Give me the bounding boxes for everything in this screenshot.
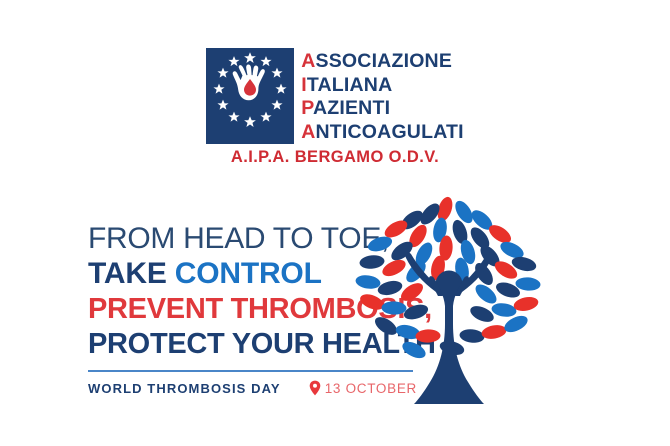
aipa-rest-1: SSOCIAZIONE	[316, 50, 453, 72]
wtd-headline-block: FROM HEAD TO TOE, TAKE CONTROL PREVENT T…	[88, 222, 388, 362]
aipa-initial-1: A	[301, 50, 315, 72]
aipa-subtitle: A.I.P.A. BERGAMO O.D.V.	[0, 148, 670, 167]
aipa-rest-3: AZIENTI	[313, 97, 390, 119]
wtd-headline-line-3: PREVENT THROMBOSIS,	[88, 292, 388, 327]
aipa-rest-2: TALIANA	[307, 74, 393, 96]
aipa-wordmark-line-4: ANTICOAGULATI	[301, 121, 464, 145]
aipa-initial-3: P	[301, 97, 313, 119]
aipa-emblem	[206, 48, 294, 144]
tree-trunk-human-figure	[405, 253, 492, 404]
aipa-wordmark: ASSOCIAZIONE ITALIANA PAZIENTI ANTICOAGU…	[301, 48, 464, 144]
wtd-headline-line-4: PROTECT YOUR HEALTH	[88, 327, 388, 362]
aipa-logo-block: ASSOCIAZIONE ITALIANA PAZIENTI ANTICOAGU…	[0, 48, 670, 173]
aipa-wordmark-line-2: ITALIANA	[301, 74, 464, 98]
aipa-rest-4: NTICOAGULATI	[316, 121, 464, 143]
wtd-headline-line-1: FROM HEAD TO TOE,	[88, 222, 388, 256]
hand-with-blood-drop-and-stars-emblem	[206, 48, 294, 144]
wtd-headline-line-2: TAKE CONTROL	[88, 256, 388, 292]
wtd-control-word: CONTROL	[175, 257, 322, 290]
wtd-take-word: TAKE	[88, 257, 175, 290]
aipa-initial-4: A	[301, 121, 315, 143]
aipa-wordmark-line-1: ASSOCIAZIONE	[301, 50, 464, 74]
aipa-logo-row: ASSOCIAZIONE ITALIANA PAZIENTI ANTICOAGU…	[0, 48, 670, 144]
map-pin-icon	[309, 380, 321, 396]
aipa-wordmark-line-3: PAZIENTI	[301, 97, 464, 121]
world-thrombosis-day-banner: FROM HEAD TO TOE, TAKE CONTROL PREVENT T…	[0, 196, 670, 426]
world-thrombosis-day-tree-figure-logo	[352, 196, 547, 411]
wtd-campaign-name: WORLD THROMBOSIS DAY	[88, 381, 281, 396]
